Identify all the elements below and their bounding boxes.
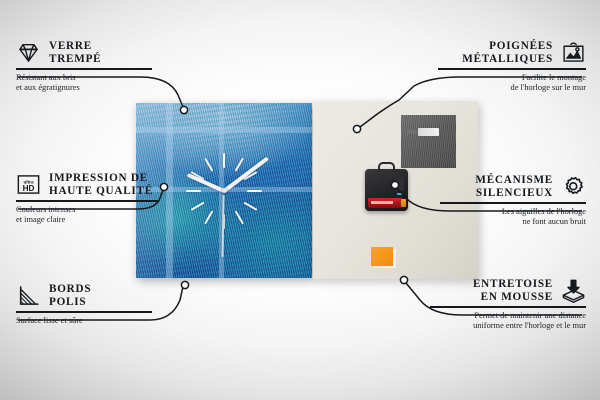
feature-divider [16,200,158,202]
feature-title: POIGNÉES MÉTALLIQUES [462,40,553,65]
gear-icon [561,174,586,199]
feature-divider [440,202,586,204]
svg-text:HD: HD [23,184,35,193]
feature-subtitle: Résistant aux bris et aux égratignures [16,73,156,94]
feature-title: BORDS POLIS [49,283,91,308]
ultra-hd-icon: ultra HD [16,172,41,197]
feature-header: VERRE TREMPÉ [16,40,156,65]
feature-impression-haute-qualite: ultra HD IMPRESSION DE HAUTE QUALITÉ Cou… [16,172,162,226]
feature-title: ENTRETOISE EN MOUSSE [473,278,553,303]
feature-header: BORDS POLIS [16,283,156,308]
infographic-canvas: VERRE TREMPÉ Résistant aux bris et aux é… [0,0,600,400]
feature-divider [430,306,586,308]
feature-subtitle: Les aiguilles de l'horloge ne font aucun… [436,207,586,228]
feature-subtitle: Facilite le montage de l'horloge sur le … [434,73,586,94]
picture-hanger-icon [561,40,586,65]
feature-subtitle: Surface lisse et sûre [16,316,156,326]
feature-header: POIGNÉES MÉTALLIQUES [434,40,586,65]
leader-dot-poignees [353,125,360,132]
feature-header: MÉCANISME SILENCIEUX [436,174,586,199]
leader-dot-mecanisme [391,181,398,188]
feature-subtitle: Couleurs intenses et image claire [16,205,162,226]
feature-verre-tremple: VERRE TREMPÉ Résistant aux bris et aux é… [16,40,156,94]
feature-entretoise-en-mousse: ENTRETOISE EN MOUSSE Permet de maintenir… [426,278,586,332]
feature-divider [16,68,152,70]
polished-edge-icon [16,283,41,308]
foam-spacer-icon [561,278,586,303]
leader-dot-entretoise [400,276,407,283]
feature-bords-polis: BORDS POLIS Surface lisse et sûre [16,283,156,326]
feature-title: IMPRESSION DE HAUTE QUALITÉ [49,172,153,197]
feature-subtitle: Permet de maintenir une distance uniform… [426,311,586,332]
diamond-icon [16,40,41,65]
leader-dot-verre-tremple [180,106,187,113]
leader-dot-bords-polis [181,281,188,288]
feature-title: MÉCANISME SILENCIEUX [475,174,553,199]
feature-header: ultra HD IMPRESSION DE HAUTE QUALITÉ [16,172,162,197]
feature-mecanisme-silencieux: MÉCANISME SILENCIEUX Les aiguilles de l'… [436,174,586,228]
feature-title: VERRE TREMPÉ [49,40,101,65]
feature-divider [16,311,152,313]
feature-header: ENTRETOISE EN MOUSSE [426,278,586,303]
feature-poignees-metalliques: POIGNÉES MÉTALLIQUES Facilite le montage… [434,40,586,94]
feature-divider [438,68,586,70]
